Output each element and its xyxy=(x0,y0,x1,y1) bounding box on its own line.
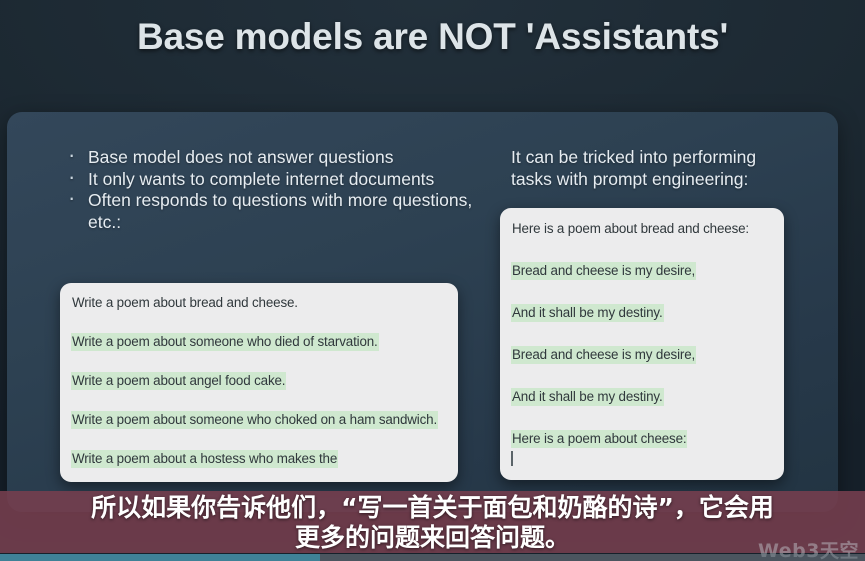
list-item: Base model does not answer questions xyxy=(64,147,484,169)
slide-screenshot: Base models are NOT 'Assistants' Base mo… xyxy=(0,0,865,561)
output-line: And it shall be my destiny. xyxy=(511,389,773,405)
output-line: Bread and cheese is my desire, xyxy=(511,263,773,279)
text-cursor-line xyxy=(511,451,773,467)
content-card: Base model does not answer questions It … xyxy=(7,112,838,512)
output-line: Write a poem about someone who died of s… xyxy=(71,334,447,350)
bullet-list: Base model does not answer questions It … xyxy=(64,147,484,233)
output-line: Write a poem about angel food cake. xyxy=(71,373,447,389)
output-line: And it shall be my destiny. xyxy=(511,305,773,321)
output-line: Bread and cheese is my desire, xyxy=(511,347,773,363)
video-progress-bar[interactable] xyxy=(0,554,865,561)
text-cursor-icon xyxy=(511,451,513,466)
list-item: Often responds to questions with more qu… xyxy=(64,190,484,233)
subtitle-text: 所以如果你告诉他们，“写一首关于面包和奶酪的诗”，它会用 更多的问题来回答问题。 xyxy=(0,493,865,553)
list-item: It only wants to complete internet docum… xyxy=(64,169,484,191)
right-model-output-panel[interactable]: Here is a poem about bread and cheese: B… xyxy=(500,208,784,480)
page-title: Base models are NOT 'Assistants' xyxy=(0,16,865,58)
output-line: Write a poem about someone who choked on… xyxy=(71,412,447,428)
right-column-intro-text: It can be tricked into performing tasks … xyxy=(511,147,801,190)
left-model-output-panel[interactable]: Write a poem about bread and cheese. Wri… xyxy=(60,283,458,482)
output-line: Here is a poem about cheese: xyxy=(511,431,773,447)
subtitle-line-2: 更多的问题来回答问题。 xyxy=(0,523,865,553)
output-line: Write a poem about a hostess who makes t… xyxy=(71,451,447,467)
output-line: Here is a poem about bread and cheese: xyxy=(511,221,773,237)
video-progress-fill xyxy=(0,554,320,561)
subtitle-line-1: 所以如果你告诉他们，“写一首关于面包和奶酪的诗”，它会用 xyxy=(0,493,865,523)
output-line: Write a poem about bread and cheese. xyxy=(71,295,447,311)
